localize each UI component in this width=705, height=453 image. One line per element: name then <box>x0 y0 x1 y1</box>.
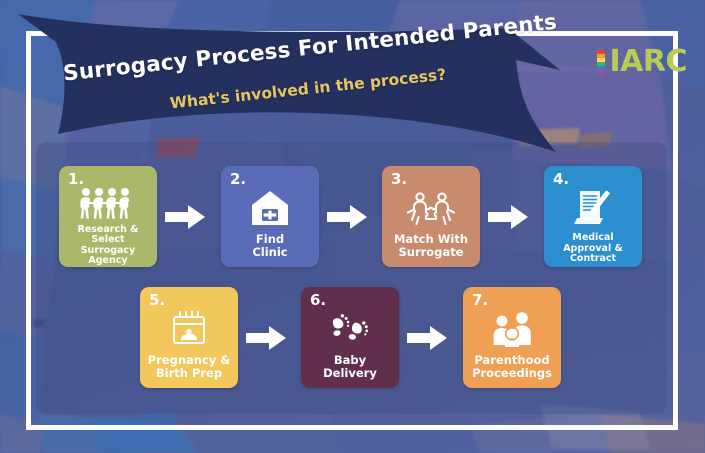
process-step-4[interactable]: 4. Medical Approval & Contract <box>544 166 642 267</box>
step-label: Pregnancy & Birth Prep <box>144 354 235 380</box>
document-pen-icon <box>573 185 613 231</box>
flow-arrow-2-to-3 <box>326 204 368 230</box>
baby-footprints-icon <box>328 306 372 352</box>
flow-arrow-3-to-4 <box>487 204 529 230</box>
step-label: Parenthood Proceedings <box>468 354 556 380</box>
iarc-logo[interactable]: IARC <box>597 47 688 77</box>
step-number: 2. <box>230 172 246 187</box>
process-step-6[interactable]: 6. B <box>301 287 399 388</box>
step-label: Medical Approval & Contract <box>559 233 627 265</box>
rainbow-bars-icon <box>597 50 605 75</box>
step-label: Find Clinic <box>248 233 291 259</box>
process-step-5[interactable]: 5. Pregnancy & Birth Prep <box>140 287 238 388</box>
logo-text: IARC <box>610 47 688 77</box>
group-of-people-icon <box>78 185 138 223</box>
flow-arrow-6-to-7 <box>406 325 448 351</box>
step-number: 7. <box>472 293 488 308</box>
clinic-house-icon <box>250 185 290 231</box>
step-number: 6. <box>310 293 326 308</box>
step-label: Match With Surrogate <box>390 233 472 259</box>
flow-arrow-5-to-6 <box>245 325 287 351</box>
step-label: Research & Select Surrogacy Agency <box>59 225 157 268</box>
process-step-2[interactable]: 2. Find Clinic <box>221 166 319 267</box>
process-step-7[interactable]: 7. Parenthood Proceedings <box>463 287 561 388</box>
step-number: 5. <box>149 293 165 308</box>
family-icon <box>489 306 535 352</box>
process-step-3[interactable]: 3. Match With Surrogate <box>382 166 480 267</box>
infographic-canvas: 1. Research & Select Surrogacy Ag <box>0 0 705 453</box>
step-label: Baby Delivery <box>319 354 381 380</box>
flow-arrow-1-to-2 <box>164 204 206 230</box>
step-number: 4. <box>553 172 569 187</box>
calendar-icon <box>168 306 210 352</box>
puzzle-people-icon <box>404 185 458 231</box>
process-step-1[interactable]: 1. Research & Select Surrogacy Ag <box>59 166 157 267</box>
